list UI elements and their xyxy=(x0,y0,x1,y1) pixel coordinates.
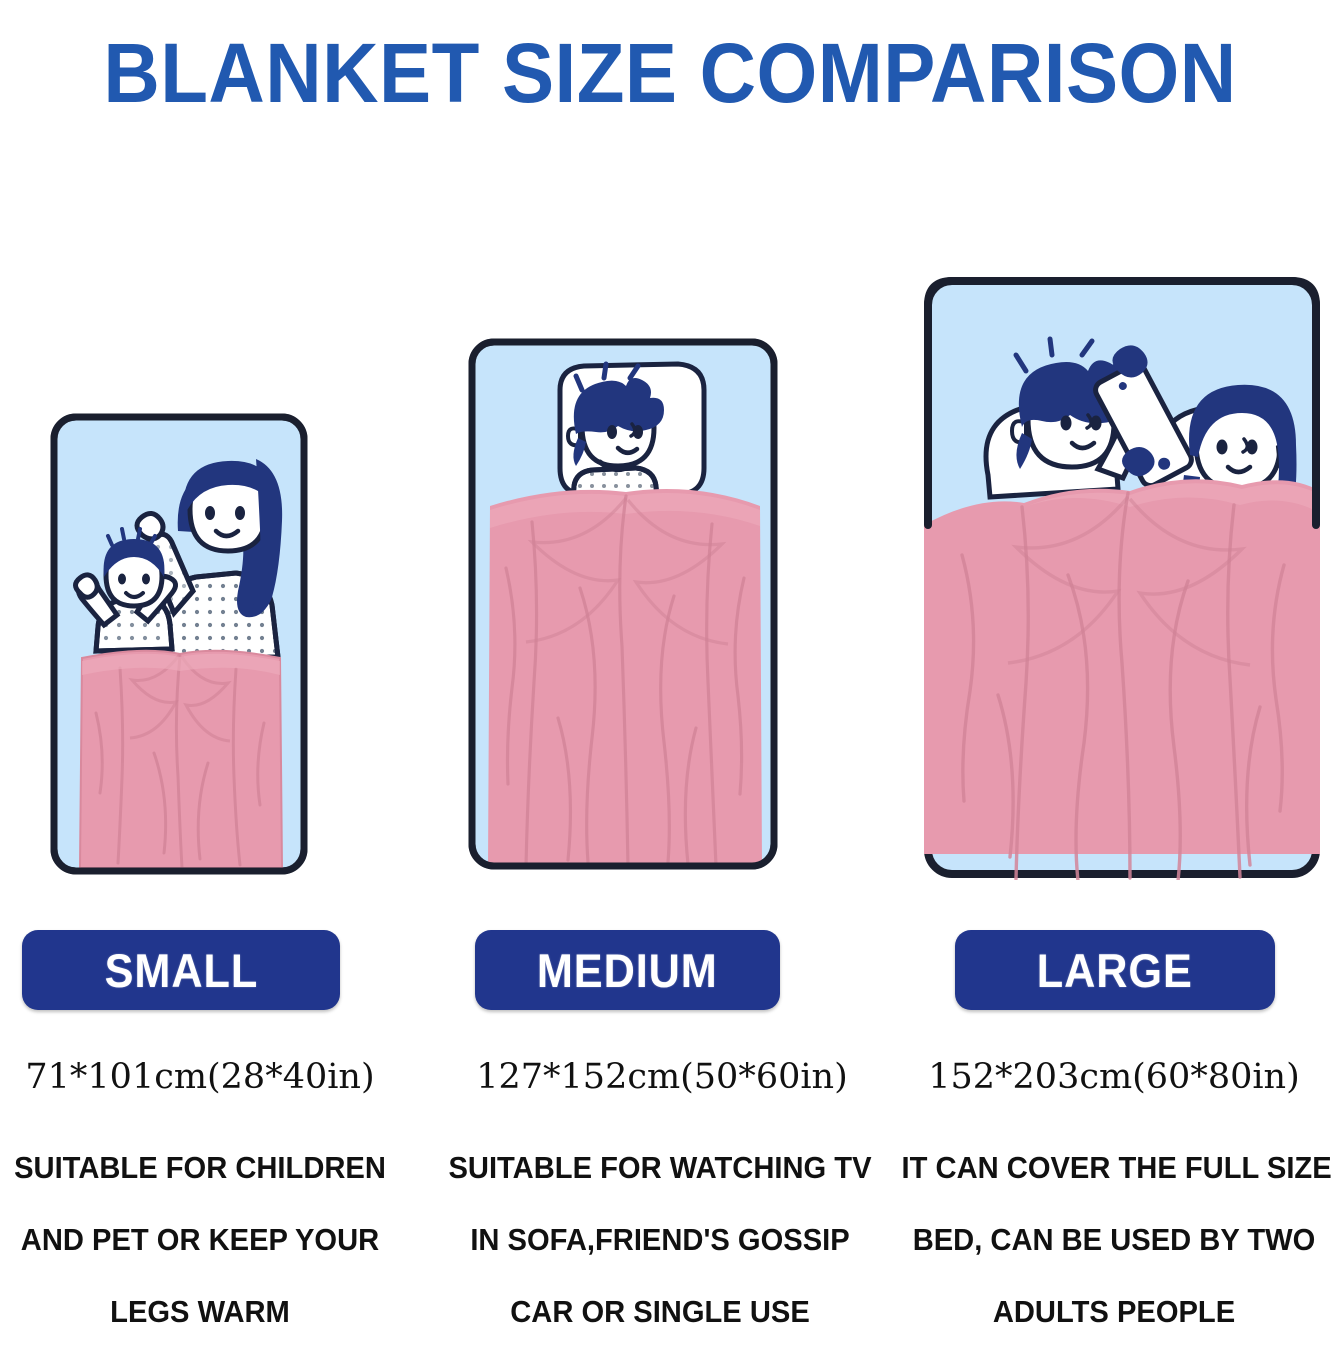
size-badge-medium[interactable]: MEDIUM xyxy=(475,930,780,1010)
description-medium: SUITABLE FOR WATCHING TV IN SOFA,FRIEND'… xyxy=(444,1132,876,1348)
illustration-panel-large xyxy=(922,275,1322,880)
dimensions-large: 152*203cm(60*80in) xyxy=(888,1057,1340,1097)
description-small-line-3: LEGS WARM xyxy=(12,1276,388,1348)
dimensions-small: 71*101cm(28*40in) xyxy=(0,1057,400,1097)
size-badge-small-label: SMALL xyxy=(104,947,258,994)
size-badge-medium-label: MEDIUM xyxy=(537,947,718,994)
illustration-panel-small xyxy=(50,413,308,875)
dimensions-medium: 127*152cm(50*60in) xyxy=(432,1057,892,1097)
illustration-panel-medium xyxy=(468,338,778,870)
description-small-line-2: AND PET OR KEEP YOUR xyxy=(12,1204,388,1276)
size-badge-large-label: LARGE xyxy=(1037,947,1193,994)
description-medium-line-1: SUITABLE FOR WATCHING TV xyxy=(444,1132,876,1204)
description-large-line-1: IT CAN COVER THE FULL SIZE xyxy=(902,1132,1327,1204)
size-badge-small[interactable]: SMALL xyxy=(22,930,340,1010)
infographic-page: BLANKET SIZE COMPARISON xyxy=(0,0,1340,1340)
size-badge-large[interactable]: LARGE xyxy=(955,930,1275,1010)
page-title: BLANKET SIZE COMPARISON xyxy=(47,30,1293,116)
description-large-line-3: ADULTS PEOPLE xyxy=(902,1276,1327,1348)
description-medium-line-3: CAR OR SINGLE USE xyxy=(444,1276,876,1348)
description-large: IT CAN COVER THE FULL SIZE BED, CAN BE U… xyxy=(902,1132,1327,1348)
description-small: SUITABLE FOR CHILDREN AND PET OR KEEP YO… xyxy=(12,1132,388,1348)
description-small-line-1: SUITABLE FOR CHILDREN xyxy=(12,1132,388,1204)
description-medium-line-2: IN SOFA,FRIEND'S GOSSIP xyxy=(444,1204,876,1276)
description-large-line-2: BED, CAN BE USED BY TWO xyxy=(902,1204,1327,1276)
